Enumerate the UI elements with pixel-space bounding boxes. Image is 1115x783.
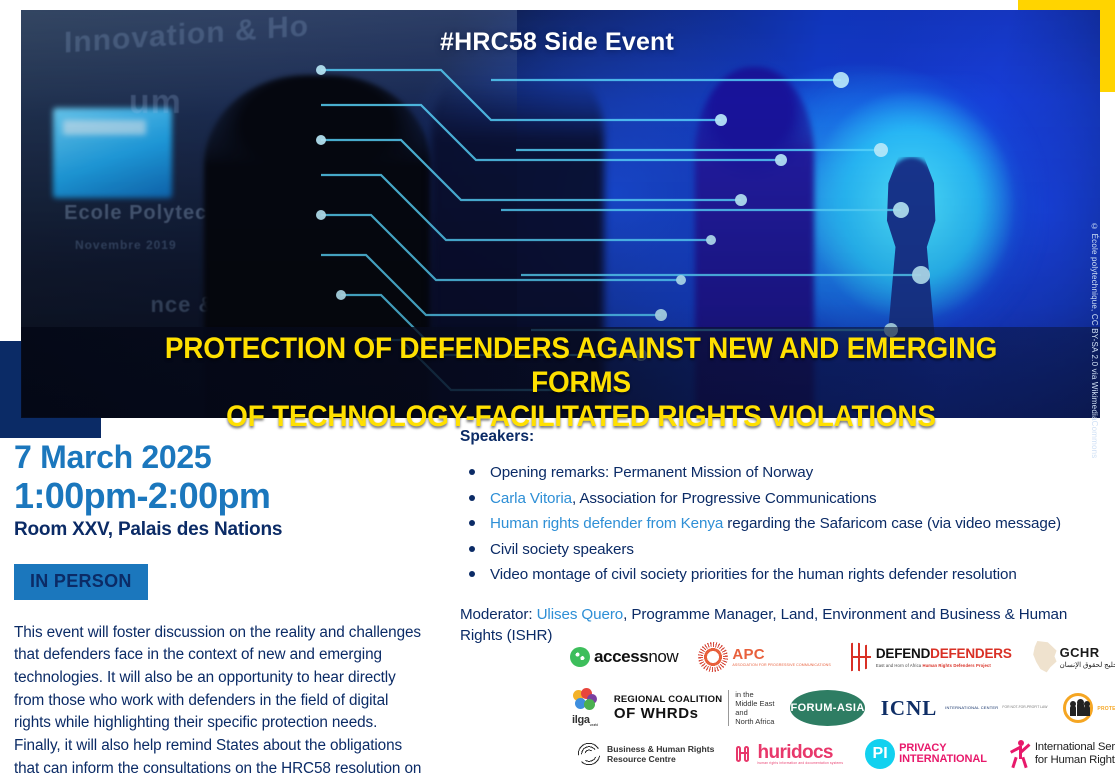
- apc-abbr: APC: [732, 646, 765, 663]
- pi-line-a: PROTECTION: [1097, 707, 1115, 712]
- huridocs-sub: human rights information and documentati…: [757, 762, 843, 765]
- logo-protection-international: PROTECTION INTERNATIONAL: [1063, 693, 1115, 723]
- event-location: Room XXV, Palais des Nations: [14, 519, 424, 542]
- accessnow-globe-icon: [570, 647, 590, 667]
- bhrrc-globe-icon: [576, 741, 602, 767]
- dd-sub-b: Human Rights Defenders Project: [922, 663, 990, 668]
- moderator-name: Ulises Quero: [537, 606, 624, 623]
- logo-huridocs: huridocs human rights information and do…: [736, 743, 843, 765]
- logo-business-human-rights-resource-centre: Business & Human Rights Resource Centre: [576, 741, 714, 767]
- speaker-text: , Association for Progressive Communicat…: [572, 490, 877, 507]
- whrd-line-a: REGIONAL COALITION: [614, 695, 722, 705]
- logo-row-3: Business & Human Rights Resource Centre …: [560, 734, 1115, 774]
- list-item: Carla Vitoria, Association for Progressi…: [464, 488, 1100, 510]
- event-poster: Innovation & Ho um Ecole Polytechnique N…: [0, 0, 1115, 783]
- whrd-side-1: in the: [735, 690, 774, 699]
- bhrrc-line-a: Business & Human Rights: [607, 744, 714, 754]
- title-line-1: PROTECTION OF DEFENDERS AGAINST NEW AND …: [135, 332, 1028, 400]
- bullet-icon: [469, 469, 475, 475]
- logo-apc: APC ASSOCIATION FOR PROGRESSIVE COMMUNIC…: [698, 642, 831, 672]
- speakers-list: Opening remarks: Permanent Mission of No…: [464, 462, 1100, 586]
- huridocs-abbr: huridocs: [757, 742, 832, 763]
- speaker-text: regarding the Safaricom case (via video …: [723, 515, 1061, 532]
- ilga-sub: world: [590, 723, 598, 728]
- moderator-label: Moderator:: [460, 606, 537, 623]
- logo-forum-asia: FORUM-ASIA: [790, 690, 864, 726]
- navy-accent-wide: [0, 417, 101, 438]
- event-description: This event will foster discussion on the…: [14, 622, 424, 783]
- whrd-side-2: Middle East: [735, 699, 774, 708]
- logo-privacy-international: PI PRIVACY INTERNATIONAL: [865, 739, 987, 769]
- whrd-side-4: North Africa: [735, 717, 774, 726]
- list-item: Video montage of civil society prioritie…: [464, 564, 1100, 586]
- logo-row-1: accessnow APC ASSOCIATION FOR PROGRESSIV…: [560, 632, 1115, 682]
- logo-icnl: ICNL INTERNATIONAL CENTER FOR NOT-FOR-PR…: [881, 698, 1048, 719]
- whrd-side-3: and: [735, 708, 774, 717]
- icnl-abbr: ICNL: [881, 698, 938, 719]
- icnl-sub2: FOR NOT-FOR-PROFIT LAW: [1002, 706, 1047, 709]
- accessnow-bold: access: [594, 647, 648, 666]
- bullet-icon: [469, 520, 475, 526]
- privacy-international-mark-icon: PI: [865, 739, 895, 769]
- ilga-abbr: ilga: [572, 714, 590, 726]
- partner-logos: accessnow APC ASSOCIATION FOR PROGRESSIV…: [560, 632, 1115, 774]
- logo-defenddefenders: DEFENDDEFENDERS East and Horn of Africa …: [851, 643, 1012, 671]
- speaker-highlight: Carla Vitoria: [490, 490, 572, 507]
- logo-ilga: ilgaworld: [572, 688, 598, 727]
- whrd-line-b: OF WHRDs: [614, 706, 722, 721]
- icnl-sub: INTERNATIONAL CENTER: [945, 706, 998, 710]
- logo-gchr: GCHR مركز الخليج لحقوق الإنسان: [1032, 641, 1115, 673]
- speaker-text: Opening remarks: Permanent Mission of No…: [490, 464, 813, 481]
- logo-row-2: ilgaworld REGIONAL COALITION OF WHRDs in…: [560, 682, 1115, 734]
- apc-subtitle: ASSOCIATION FOR PROGRESSIVE COMMUNICATIO…: [732, 664, 831, 668]
- bullet-icon: [469, 495, 475, 501]
- forum-asia-abbr: FORUM-ASIA: [790, 702, 864, 714]
- ishr-line-a: International Service: [1035, 741, 1115, 754]
- dd-part-a: DEFEND: [876, 646, 930, 661]
- accessnow-light: now: [648, 647, 678, 666]
- speaker-text: Civil society speakers: [490, 541, 634, 558]
- gchr-map-icon: [1032, 641, 1058, 673]
- event-details-column: 7 March 2025 1:00pm-2:00pm Room XXV, Pal…: [14, 440, 424, 783]
- title-line-2: OF TECHNOLOGY-FACILITATED RIGHTS VIOLATI…: [135, 400, 1028, 434]
- apc-sunburst-icon: [698, 642, 728, 672]
- huridocs-mark-icon: [736, 745, 754, 763]
- bullet-icon: [469, 571, 475, 577]
- gchr-arabic: مركز الخليج لحقوق الإنسان: [1060, 662, 1115, 669]
- photo-credit: © École polytechnique, CC BY-SA 2.0 via …: [1090, 222, 1099, 458]
- pi-initials: PI: [865, 739, 895, 769]
- protection-people-icon: [1063, 693, 1093, 723]
- dd-part-b: DEFENDERS: [930, 646, 1011, 661]
- privacy-line-b: INTERNATIONAL: [899, 754, 987, 765]
- ishr-line-b: for Human Rights: [1035, 754, 1115, 767]
- status-badge: IN PERSON: [14, 564, 148, 600]
- list-item: Civil society speakers: [464, 539, 1100, 561]
- speaker-text: Video montage of civil society prioritie…: [490, 566, 1017, 583]
- speaker-highlight: Human rights defender from Kenya: [490, 515, 723, 532]
- bhrrc-line-b: Resource Centre: [607, 754, 714, 764]
- logo-regional-coalition-whrds: REGIONAL COALITION OF WHRDs in the Middl…: [614, 690, 775, 727]
- logo-ishr: International Service for Human Rights: [1009, 740, 1115, 768]
- logo-accessnow: accessnow: [570, 647, 678, 667]
- defenddefenders-mark-icon: [851, 643, 872, 671]
- bullet-icon: [469, 546, 475, 552]
- list-item: Human rights defender from Kenya regardi…: [464, 513, 1100, 535]
- event-time: 1:00pm-2:00pm: [14, 477, 424, 515]
- poster-title: PROTECTION OF DEFENDERS AGAINST NEW AND …: [101, 332, 1061, 434]
- event-date: 7 March 2025: [14, 440, 424, 475]
- hashtag-label: #HRC58 Side Event: [440, 28, 674, 57]
- gchr-abbr: GCHR: [1060, 645, 1100, 660]
- ishr-figure-icon: [1009, 740, 1031, 768]
- speakers-column: Speakers: Opening remarks: Permanent Mis…: [460, 428, 1100, 647]
- dd-sub-a: East and Horn of Africa: [876, 663, 923, 668]
- ilga-bubbles-icon: [573, 688, 597, 710]
- list-item: Opening remarks: Permanent Mission of No…: [464, 462, 1100, 484]
